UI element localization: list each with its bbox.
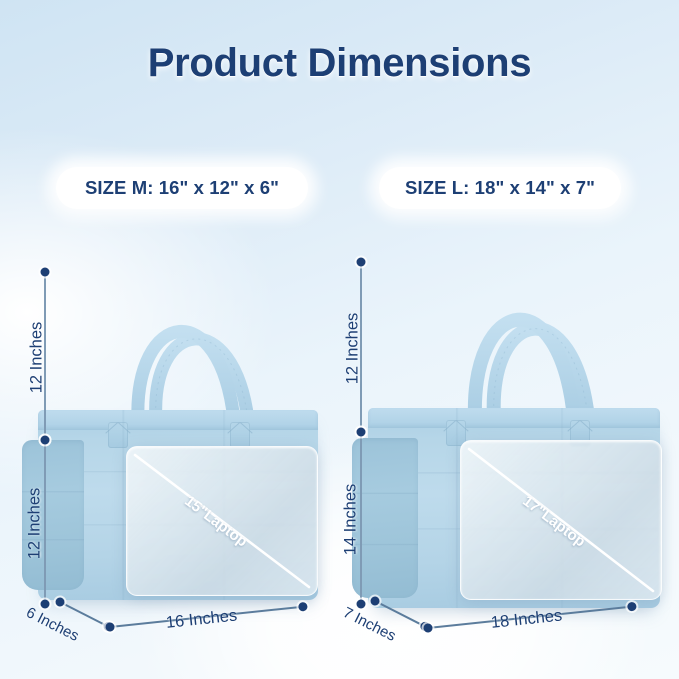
ruler-dot xyxy=(423,623,433,633)
ruler-label-body-height-size-m: 12 Inches xyxy=(26,474,45,574)
ruler-dot xyxy=(41,268,50,277)
bag-illustration-size-m: 15"Laptop xyxy=(38,248,318,600)
size-l-badge: SIZE L: 18" x 14" x 7" xyxy=(379,167,621,209)
ruler-dot xyxy=(627,602,637,612)
ruler-dot xyxy=(357,258,366,267)
ruler-label-width-size-l: 18 Inches xyxy=(490,607,563,633)
ruler-dot xyxy=(298,602,308,612)
strap-tab-left-size-m xyxy=(108,422,128,448)
bag-rim-size-m xyxy=(38,410,318,430)
ruler-dot xyxy=(357,428,366,437)
product-dimensions-infographic: Product Dimensions SIZE M: 16" x 12" x 6… xyxy=(0,0,679,679)
ruler-label-width-size-m: 16 Inches xyxy=(165,607,238,633)
ruler-label-body-height-size-l: 14 Inches xyxy=(342,470,361,570)
ruler-dot xyxy=(41,436,50,445)
strap-tab-right-size-m xyxy=(230,422,250,448)
laptop-size-l: 17"Laptop xyxy=(460,440,662,600)
size-m-badge-label: SIZE M: 16" x 12" x 6" xyxy=(85,177,279,199)
size-m-badge: SIZE M: 16" x 12" x 6" xyxy=(56,167,308,209)
laptop-size-m: 15"Laptop xyxy=(126,446,318,596)
bag-rim-size-l xyxy=(368,408,660,428)
ruler-dot xyxy=(41,600,50,609)
ruler-dot xyxy=(357,600,366,609)
ruler-label-handle-height-size-l: 12 Inches xyxy=(344,299,363,399)
ruler-dot xyxy=(105,622,115,632)
page-title: Product Dimensions xyxy=(0,41,679,86)
bag-illustration-size-l: 17"Laptop xyxy=(368,240,660,608)
size-l-badge-label: SIZE L: 18" x 14" x 7" xyxy=(405,177,595,199)
ruler-label-handle-height-size-m: 12 Inches xyxy=(28,308,47,408)
